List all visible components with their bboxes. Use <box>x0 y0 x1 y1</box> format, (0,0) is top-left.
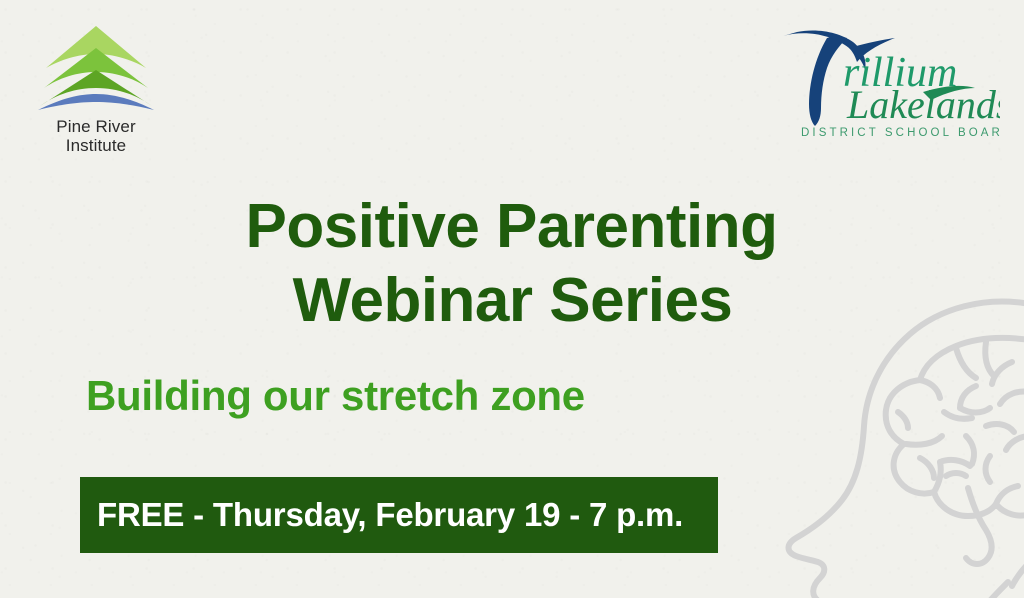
poster-title-line-2: Webinar Series <box>1 264 1024 338</box>
poster-title: Positive Parenting Webinar Series <box>0 190 1024 338</box>
trillium-lakelands-logo-mark: rillium Lakelands DISTRICT SCHOOL BOARD <box>775 22 1000 142</box>
trillium-tagline: DISTRICT SCHOOL BOARD <box>801 127 1000 139</box>
poster-title-line-1: Positive Parenting <box>0 190 1024 264</box>
trillium-lakelands-dsb-logo: rillium Lakelands DISTRICT SCHOOL BOARD <box>775 22 1000 142</box>
event-details-banner: FREE - Thursday, February 19 - 7 p.m. <box>80 477 718 553</box>
pine-river-institute-logo: Pine River Institute <box>28 22 164 155</box>
trillium-word-lakelands: Lakelands <box>846 82 1000 127</box>
poster-subtitle: Building our stretch zone <box>86 371 585 421</box>
pine-river-logo-text: Pine River Institute <box>28 117 164 155</box>
pine-river-name-line2: Institute <box>66 136 126 155</box>
pine-tree-icon <box>28 22 164 114</box>
pine-river-name-line1: Pine River <box>56 117 135 136</box>
poster-canvas: Pine River Institute rillium Lakelands D… <box>0 0 1024 598</box>
event-details-text: FREE - Thursday, February 19 - 7 p.m. <box>80 496 683 534</box>
